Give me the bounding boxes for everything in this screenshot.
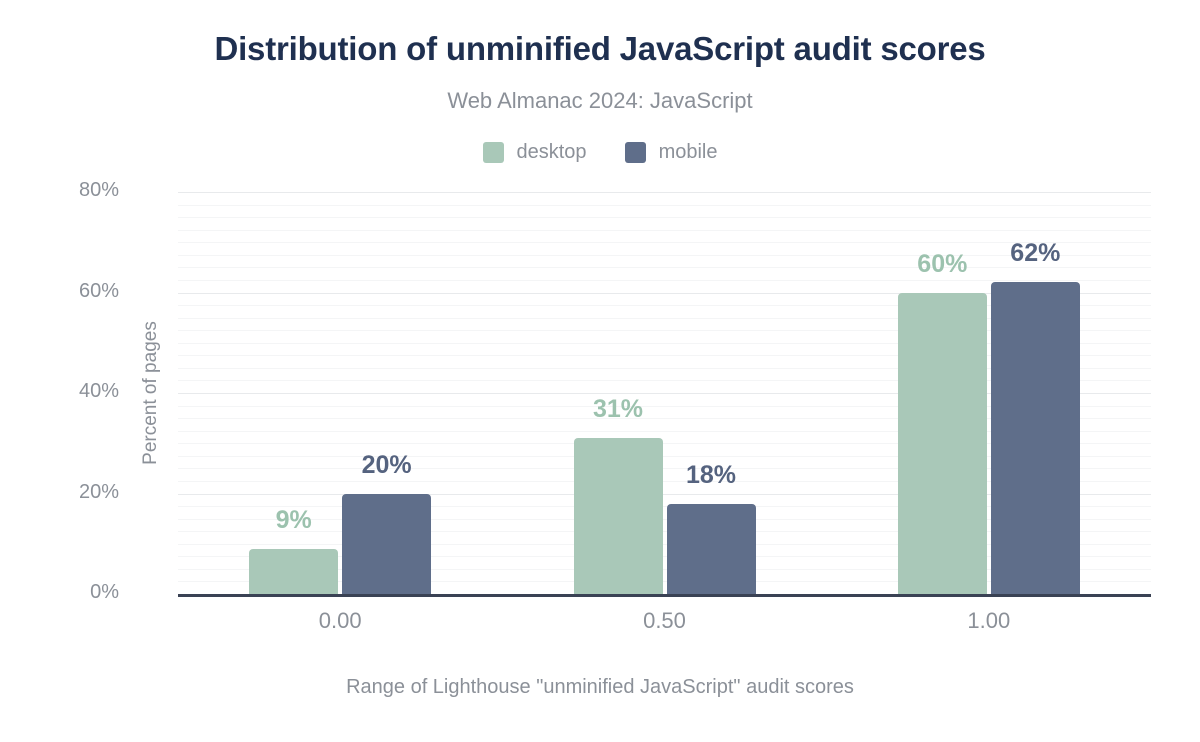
gridline-minor	[178, 205, 1151, 206]
bar-value-label-mobile-0.50: 18%	[647, 461, 776, 490]
bar-mobile-0.00[interactable]	[342, 494, 431, 595]
bar-value-label-mobile-0.00: 20%	[322, 451, 451, 480]
y-axis-tick-label: 20%	[39, 481, 119, 504]
y-axis-title: Percent of pages	[140, 321, 162, 465]
bar-mobile-1.00[interactable]	[991, 282, 1080, 594]
legend-swatch-icon	[625, 142, 646, 163]
legend-item-desktop[interactable]: desktop	[483, 141, 587, 164]
x-axis-tick-label: 1.00	[909, 608, 1069, 634]
legend-swatch-icon	[483, 142, 504, 163]
x-axis-tick-label: 0.50	[585, 608, 745, 634]
gridline-major	[178, 192, 1151, 193]
gridline-minor	[178, 230, 1151, 231]
chart-legend: desktopmobile	[0, 141, 1200, 164]
chart-title: Distribution of unminified JavaScript au…	[0, 30, 1200, 68]
bar-desktop-1.00[interactable]	[898, 293, 987, 595]
bar-value-label-desktop-0.00: 9%	[229, 506, 358, 535]
y-axis-tick-label: 80%	[39, 179, 119, 202]
x-axis-tick-label: 0.00	[260, 608, 420, 634]
chart-subtitle: Web Almanac 2024: JavaScript	[0, 88, 1200, 114]
x-axis-title: Range of Lighthouse "unminified JavaScri…	[0, 676, 1200, 699]
bar-value-label-desktop-0.50: 31%	[554, 395, 683, 424]
bar-desktop-0.00[interactable]	[249, 549, 338, 594]
bar-mobile-0.50[interactable]	[667, 504, 756, 594]
legend-item-mobile[interactable]: mobile	[625, 141, 718, 164]
legend-label: desktop	[517, 141, 587, 164]
gridline-minor	[178, 280, 1151, 281]
legend-label: mobile	[659, 141, 718, 164]
y-axis-tick-label: 40%	[39, 380, 119, 403]
plot-area: Percent of pages 0%20%40%60%80%9%20%31%1…	[178, 192, 1151, 594]
gridline-minor	[178, 217, 1151, 218]
y-axis-tick-label: 60%	[39, 280, 119, 303]
y-axis-tick-label: 0%	[39, 581, 119, 604]
chart-container: Distribution of unminified JavaScript au…	[0, 0, 1200, 742]
x-axis-line	[178, 594, 1151, 597]
bar-value-label-mobile-1.00: 62%	[971, 239, 1100, 268]
